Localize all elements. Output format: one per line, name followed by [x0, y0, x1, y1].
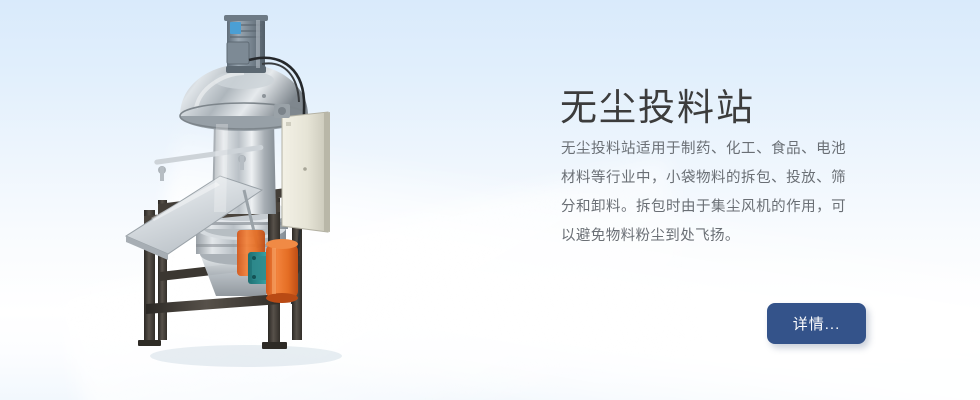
page-title: 无尘投料站	[560, 77, 755, 131]
detail-button[interactable]: 详情...	[767, 303, 866, 344]
product-image	[96, 4, 396, 376]
product-description: 无尘投料站适用于制药、化工、食品、电池材料等行业中，小袋物料的拆包、投放、筛分和…	[561, 135, 846, 251]
banner-content: 无尘投料站 无尘投料站适用于制药、化工、食品、电池材料等行业中，小袋物料的拆包、…	[560, 0, 960, 400]
vibrating-motor	[224, 15, 268, 73]
product-shadow	[150, 345, 342, 367]
product-banner: 无尘投料站 无尘投料站适用于制药、化工、食品、电池材料等行业中，小袋物料的拆包、…	[0, 0, 980, 400]
sieve-outlet-clamp	[274, 104, 290, 118]
control-cabinet	[282, 112, 330, 232]
